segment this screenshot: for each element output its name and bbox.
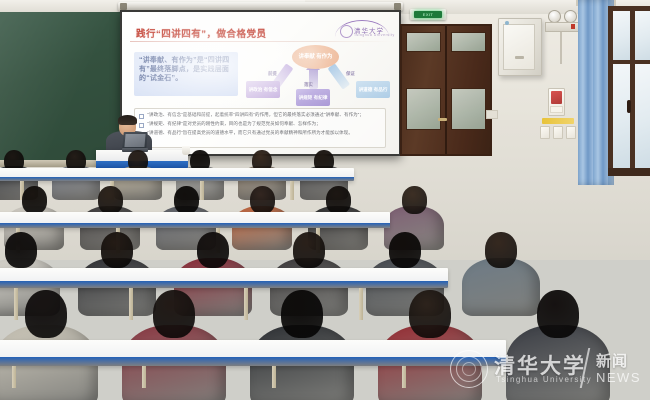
classroom-desk [0, 340, 506, 366]
desk-leg [402, 366, 406, 388]
diagram-edge-label-1: 落实 [304, 82, 313, 88]
diagram-edge-label-0: 前提 [268, 71, 277, 77]
door-handle [438, 118, 447, 121]
diagram-node-2: 讲道德 有品行 [356, 81, 390, 98]
slide-quote-text: “讲奉献、有作为”是“四讲四有”最终落脚点，是实践层面的“试金石”。 [139, 56, 233, 84]
audience-person-head [5, 232, 37, 268]
bullet-square-icon [139, 123, 144, 128]
bullet-square-icon [139, 114, 144, 119]
presentation-slide: 践行“四讲四有”，做合格党员 清华大学 Tsinghua University … [122, 12, 399, 154]
audience-person-head [409, 290, 451, 338]
desk-edge [0, 177, 354, 181]
slide-bullet: “讲道德、有品行”旨在提高党员的道德水平，而它只有通过党员的奉献精神和所作所为才… [139, 130, 381, 137]
fire-alarm-button-icon [551, 91, 562, 104]
door-glass-pane [406, 88, 441, 130]
audience-person-head [537, 290, 579, 338]
lecturer-hair [118, 115, 137, 125]
audience-person-head [281, 290, 323, 338]
fire-alarm-label [550, 106, 563, 113]
audience-person-head [326, 186, 351, 214]
door-glass-pane [451, 88, 486, 130]
door-glass-pane [451, 32, 486, 52]
wall-socket [566, 126, 576, 139]
watermark-section-cn: 新闻 [596, 350, 628, 371]
wall-conduit [560, 32, 562, 64]
diagram-center-node: 讲奉献 有作为 [292, 45, 339, 69]
window-frame [608, 6, 613, 176]
bullet-text: “讲道德、有品行”旨在提高党员的道德水平，而它只有通过党员的奉献精神和所作所为才… [147, 130, 353, 137]
desk-edge [0, 223, 390, 228]
audience-person-head [101, 232, 133, 268]
bullet-text: “讲政治、有信念”是基础和前提，起着统率“四讲四有”的作用，但它的最终落实必须通… [147, 112, 364, 119]
window-pane [613, 64, 630, 168]
wall-warning-strip [542, 118, 574, 124]
watermark-seal-icon [450, 350, 488, 388]
audience-person-head [25, 290, 67, 338]
audience-person-head [402, 186, 427, 214]
window-pane [635, 11, 650, 60]
audience-person-head [250, 186, 275, 214]
audience-person-head [293, 232, 325, 268]
tsinghua-logo: 清华大学 Tsinghua University [335, 18, 391, 40]
window-pane [635, 64, 650, 168]
audience-person-head [389, 232, 421, 268]
watermark-name-en: Tsinghua University [496, 375, 592, 384]
window-handle [627, 100, 631, 113]
wall-indicator-red [571, 24, 575, 29]
exit-sign-label: EXIT [414, 11, 442, 18]
desk-leg [272, 366, 276, 388]
desk-leg [12, 366, 16, 388]
desk-leg [244, 288, 248, 320]
diagram-edge-label-2: 保证 [346, 71, 355, 77]
classroom-photo: 践行“四讲四有”，做合格党员 清华大学 Tsinghua University … [0, 0, 650, 400]
window-pane [613, 11, 630, 60]
slide-bullet: “讲规矩、有纪律”是对党员的刚性约束，目的也是为了规范党员如何奉献、怎样作为； [139, 121, 381, 128]
logo-seal-icon [340, 25, 353, 38]
door-center-seam [445, 26, 447, 154]
slide-title-rule [130, 41, 392, 42]
electrical-panel-latch [515, 56, 524, 59]
desk-leg [142, 366, 146, 388]
classroom-desk [0, 268, 448, 288]
watermark: 清华大学 Tsinghua University 新闻 NEWS [442, 342, 642, 394]
window-sill [608, 168, 650, 176]
slide-quote-box: “讲奉献、有作为”是“四讲四有”最终落脚点，是实践层面的“试金石”。 [134, 52, 238, 96]
audience-person-head [197, 232, 229, 268]
laptop-screen [124, 134, 145, 147]
window-frame [630, 6, 635, 176]
wall-socket [540, 126, 550, 139]
slide-bullet-list: “讲政治、有信念”是基础和前提，起着统率“四讲四有”的作用，但它的最终落实必须通… [134, 108, 386, 148]
slide-title: 践行“四讲四有”，做合格党员 [136, 26, 267, 40]
window-frame [608, 6, 650, 11]
electrical-panel-door [503, 24, 535, 70]
exit-sign: EXIT [410, 9, 446, 20]
desk-leg [359, 288, 363, 320]
slide-diagram: 讲奉献 有作为 讲政治 有信念 讲规矩 有纪律 讲道德 有品行 前提 落实 保证 [246, 45, 392, 107]
slide-bullet: “讲政治、有信念”是基础和前提，起着统率“四讲四有”的作用，但它的最终落实必须通… [139, 112, 381, 119]
audience-person-head [485, 232, 517, 268]
classroom-desk [0, 212, 390, 228]
diagram-node-1: 讲规矩 有纪律 [296, 89, 330, 106]
desk-edge [0, 281, 448, 288]
window-frame [608, 60, 650, 64]
electrical-panel-indicator [505, 21, 509, 25]
audience-person-head [98, 186, 123, 214]
audience-person-head [153, 290, 195, 338]
classroom-desk [0, 168, 354, 181]
logo-name-en: Tsinghua University [354, 33, 395, 37]
audience-person-head [22, 186, 47, 214]
audience-person-head [174, 186, 199, 214]
bullet-text: “讲规矩、有纪律”是对党员的刚性约束，目的也是为了规范党员如何奉献、怎样作为； [147, 121, 320, 128]
wall-switch-plate [486, 110, 498, 119]
desk-edge [0, 357, 506, 366]
watermark-section-en: NEWS [596, 370, 641, 385]
wall-socket [553, 126, 563, 139]
door-glass-pane [406, 32, 441, 52]
diagram-node-0: 讲政治 有信念 [246, 81, 280, 98]
